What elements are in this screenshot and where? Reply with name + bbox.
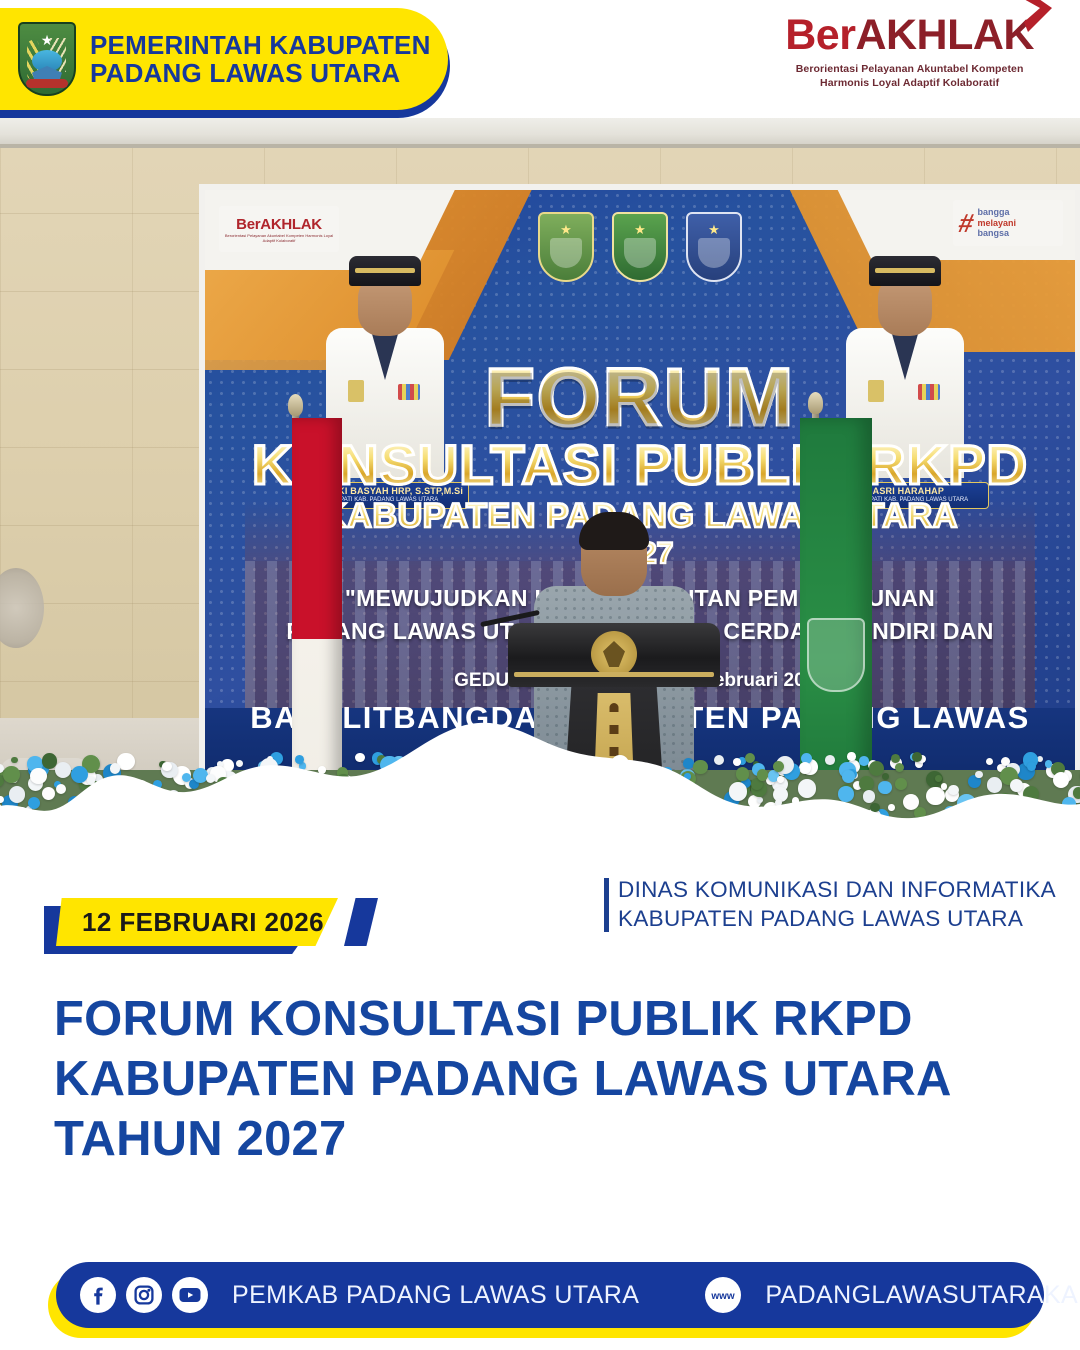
peci-cap-icon <box>349 256 421 286</box>
dinas-attribution: DINAS KOMUNIKASI DAN INFORMATIKA KABUPAT… <box>604 876 1056 934</box>
berakhlak-tagline-1: Berorientasi Pelayanan Akuntabel Kompete… <box>785 62 1034 76</box>
regency-coat-of-arms-icon: ★ <box>18 22 76 96</box>
berakhlak-tagline-2: Harmonis Loyal Adaptif Kolaboratif <box>785 76 1034 90</box>
page-title-line-2: KABUPATEN PADANG LAWAS UTARA <box>54 1050 1044 1110</box>
hash-icon: # <box>956 210 976 236</box>
backdrop-berakhlak-word: BerAKHLAK <box>236 216 322 233</box>
peci-cap-icon <box>869 256 941 286</box>
date-badge-text: 12 FEBRUARI 2026 <box>82 907 324 938</box>
chevron-right-icon <box>1022 0 1056 34</box>
finial-icon <box>288 394 303 416</box>
facebook-icon[interactable] <box>80 1277 116 1313</box>
page-title: FORUM KONSULTASI PUBLIK RKPD KABUPATEN P… <box>54 990 1044 1169</box>
header-title-block: PEMERINTAH KABUPATEN PADANG LAWAS UTARA <box>90 31 431 87</box>
bangga-line-3: bangsa <box>977 228 1016 239</box>
crest-regency-icon: ★ <box>612 212 668 282</box>
footer-social-handle[interactable]: PEMKAB PADANG LAWAS UTARA <box>232 1281 639 1310</box>
berakhlak-ber: Ber <box>785 11 855 59</box>
bangga-line-1: bangga <box>977 207 1016 218</box>
date-badge: 12 FEBRUARI 2026 <box>44 898 334 952</box>
footer-bar: PEMKAB PADANG LAWAS UTARA www PADANGLAWA… <box>56 1262 1044 1328</box>
header-government-pill: ★ PEMERINTAH KABUPATEN PADANG LAWAS UTAR… <box>0 8 448 110</box>
crest-national-icon: ★ <box>686 212 742 282</box>
header-line-1: PEMERINTAH KABUPATEN <box>90 31 431 59</box>
date-badge-body: 12 FEBRUARI 2026 <box>56 898 338 946</box>
berakhlak-tagline: Berorientasi Pelayanan Akuntabel Kompete… <box>785 62 1034 90</box>
backdrop-crest-group: ★ ★ ★ <box>538 212 742 282</box>
backdrop-bangga-melayani-logo: # bangga melayani bangsa <box>953 200 1063 246</box>
header-line-2: PADANG LAWAS UTARA <box>90 59 431 87</box>
dinas-line-1: DINAS KOMUNIKASI DAN INFORMATIKA <box>618 876 1056 905</box>
poster-canvas: BerAKHLAK Berorientasi Pelayanan Akuntab… <box>0 0 1080 1350</box>
page-title-line-1: FORUM KONSULTASI PUBLIK RKPD <box>54 990 1044 1050</box>
dinas-line-2: KABUPATEN PADANG LAWAS UTARA <box>618 905 1056 934</box>
crest-province-icon: ★ <box>538 212 594 282</box>
berakhlak-akhlak: AKHLAK <box>855 11 1034 59</box>
torn-paper-edge <box>0 710 1080 838</box>
finial-icon <box>808 392 823 414</box>
berakhlak-wordmark: BerAKHLAK <box>785 14 1034 57</box>
ceiling-beam <box>0 144 1080 148</box>
youtube-icon[interactable] <box>172 1277 208 1313</box>
www-icon[interactable]: www <box>705 1277 741 1313</box>
backdrop-berakhlak-logo: BerAKHLAK Berorientasi Pelayanan Akuntab… <box>219 206 339 252</box>
garuda-emblem-icon <box>591 631 637 677</box>
bangga-line-2: melayani <box>977 218 1016 229</box>
instagram-icon[interactable] <box>126 1277 162 1313</box>
footer-website[interactable]: PADANGLAWASUTARAKAB.GO.ID <box>765 1281 1080 1310</box>
date-badge-accent <box>344 898 378 946</box>
svg-text:www: www <box>711 1291 736 1302</box>
backdrop-berakhlak-sub: Berorientasi Pelayanan Akuntabel Kompete… <box>219 233 339 243</box>
page-title-line-3: TAHUN 2027 <box>54 1110 1044 1170</box>
event-photo: BerAKHLAK Berorientasi Pelayanan Akuntab… <box>0 118 1080 838</box>
berakhlak-logo: BerAKHLAK Berorientasi Pelayanan Akuntab… <box>785 14 1034 90</box>
